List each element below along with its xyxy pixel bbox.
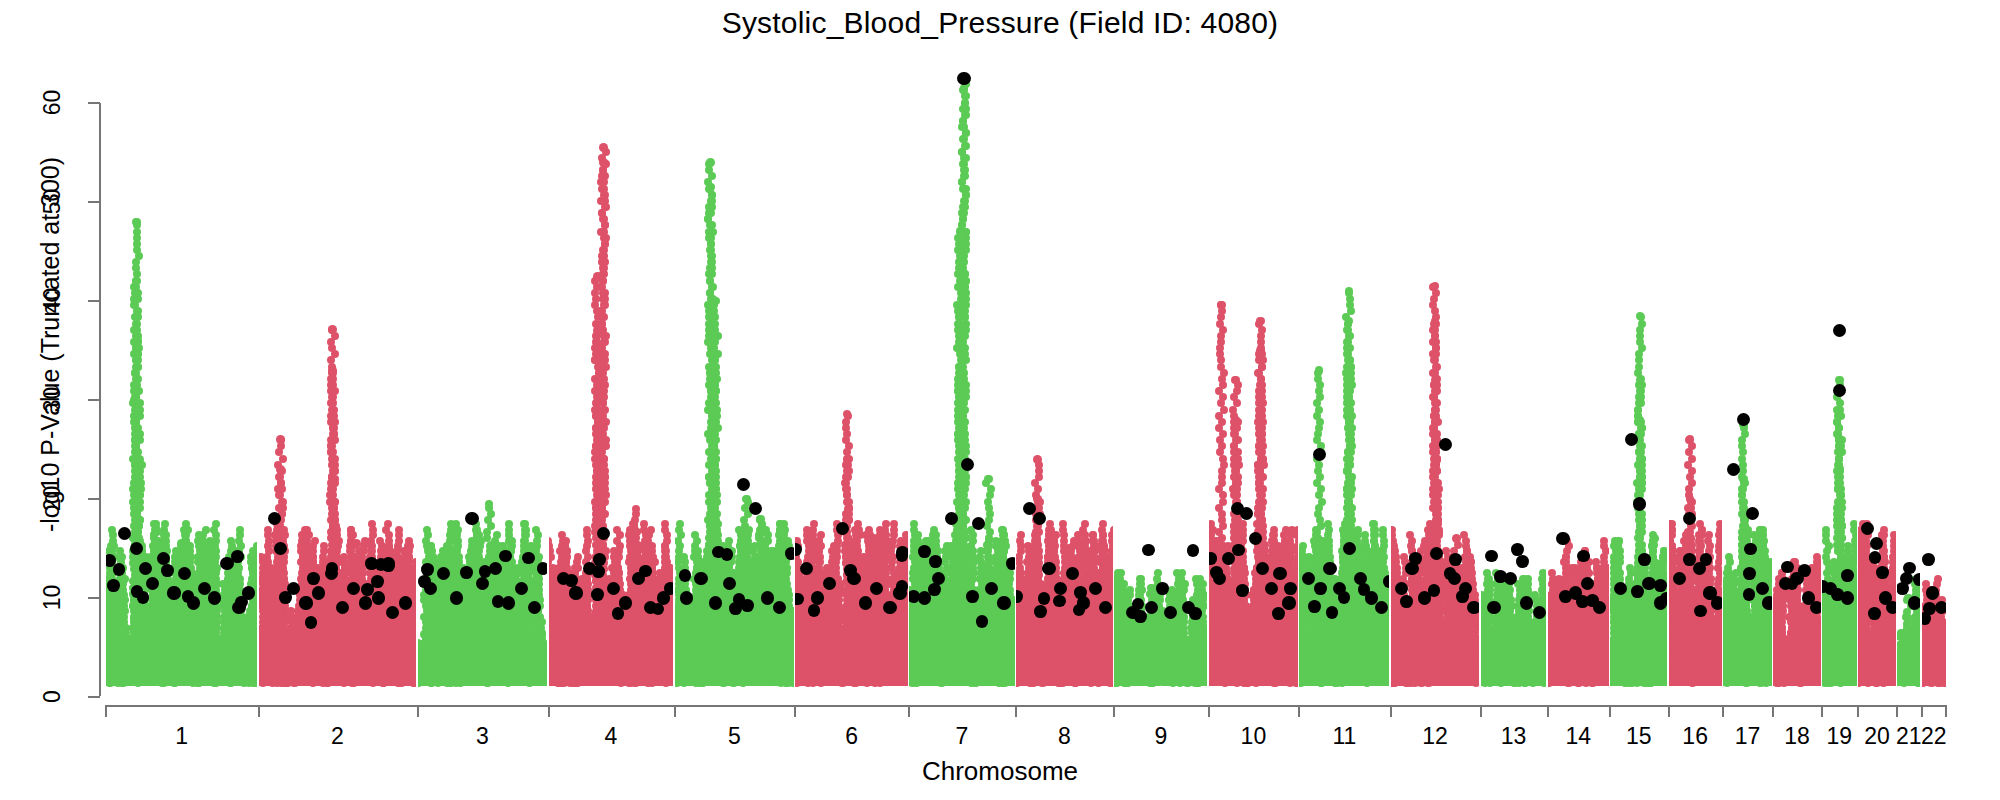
highlighted-variant-point <box>1439 438 1452 451</box>
highlighted-variant-point <box>1358 583 1371 596</box>
peak-apex-point <box>593 326 602 335</box>
x-tick-label-19: 19 <box>1826 723 1852 750</box>
variant-point <box>1725 553 1733 561</box>
highlighted-variant-point <box>1876 566 1889 579</box>
highlighted-variant-point <box>1781 561 1794 574</box>
variant-point <box>1328 624 1336 632</box>
highlighted-variant-point <box>565 574 578 587</box>
highlighted-variant-point <box>1400 595 1413 608</box>
variant-point <box>527 542 535 550</box>
chromosome-block-18 <box>1773 60 1820 697</box>
peak-apex-point <box>956 227 965 236</box>
variant-point <box>368 542 376 550</box>
peak-apex-point <box>1452 534 1461 543</box>
highlighted-variant-point <box>537 562 547 575</box>
variant-point <box>1099 651 1107 659</box>
peak-apex-point <box>1232 455 1241 464</box>
highlighted-variant-point <box>1743 567 1756 580</box>
highlighted-variant-point <box>1487 601 1500 614</box>
highlighted-variant-point <box>997 596 1010 609</box>
peak-apex-point <box>984 475 993 484</box>
highlighted-variant-point <box>859 596 872 609</box>
x-tick-label-15: 15 <box>1626 723 1652 750</box>
peak-apex-point <box>330 475 339 484</box>
highlighted-variant-point <box>299 596 312 609</box>
variant-point <box>1615 537 1623 545</box>
variant-point <box>1600 537 1608 545</box>
plot-data-area <box>100 60 1950 697</box>
peak-apex-point <box>177 539 186 548</box>
variant-point <box>1154 569 1162 577</box>
peak-apex-point <box>1033 455 1042 464</box>
highlighted-variant-point <box>1926 586 1939 599</box>
variant-point <box>423 526 431 534</box>
peak-apex-point <box>1217 301 1226 310</box>
highlighted-variant-point <box>1743 588 1756 601</box>
peak-apex-point <box>593 272 602 281</box>
variant-point <box>851 526 859 534</box>
highlighted-variant-point <box>749 502 762 515</box>
variant-point <box>1400 553 1408 561</box>
variant-point <box>1555 575 1563 583</box>
variant-point <box>1716 520 1722 528</box>
variant-point <box>1391 526 1396 534</box>
highlighted-variant-point <box>382 559 395 572</box>
page-title: Systolic_Blood_Pressure (Field ID: 4080) <box>0 6 2000 40</box>
variant-point <box>361 537 369 545</box>
highlighted-variant-point <box>591 588 604 601</box>
highlighted-variant-point <box>896 546 908 559</box>
peak-apex-point <box>1345 356 1354 365</box>
highlighted-variant-point <box>1066 567 1079 580</box>
peak-apex-point <box>844 505 853 514</box>
variant-point <box>1698 526 1706 534</box>
x-tick-6 <box>794 705 796 717</box>
highlighted-variant-point <box>1831 588 1844 601</box>
y-tick-0 <box>88 696 100 698</box>
peak-apex-point <box>328 366 337 375</box>
variant-point <box>212 520 220 528</box>
highlighted-variant-point <box>723 577 736 590</box>
highlighted-variant-point <box>1673 572 1686 585</box>
highlighted-variant-point <box>896 580 908 593</box>
highlighted-variant-point <box>1810 601 1820 614</box>
y-tick-label-10: 10 <box>39 568 66 628</box>
chromosome-block-20 <box>1858 60 1896 697</box>
variant-point <box>1110 526 1113 534</box>
x-tick-22 <box>1921 705 1923 717</box>
peak-apex-point <box>956 247 965 256</box>
highlighted-variant-point <box>694 572 707 585</box>
highlighted-variant-point <box>1467 601 1479 614</box>
variant-point <box>1099 520 1107 528</box>
variant-point <box>376 537 384 545</box>
chromosome-block-8 <box>1016 60 1113 697</box>
chromosome-block-14 <box>1548 60 1609 697</box>
highlighted-variant-point <box>139 562 152 575</box>
variant-point <box>1324 520 1332 528</box>
variant-point <box>405 537 413 545</box>
x-tick-9 <box>1113 705 1115 717</box>
peak-apex-point <box>706 158 715 167</box>
peak-apex-point <box>1065 544 1074 553</box>
highlighted-variant-point <box>729 602 742 615</box>
variant-point <box>1814 558 1821 566</box>
variant-point <box>1361 531 1369 539</box>
highlighted-variant-point <box>1142 544 1155 557</box>
highlighted-variant-point <box>1577 550 1590 563</box>
variant-point <box>661 542 669 550</box>
highlighted-variant-point <box>712 546 725 559</box>
chromosome-block-22 <box>1922 60 1946 697</box>
highlighted-variant-point <box>1614 582 1627 595</box>
variant-point <box>1705 531 1713 539</box>
highlighted-variant-point <box>1236 584 1249 597</box>
peak-apex-point <box>133 336 142 345</box>
peak-apex-point <box>1686 435 1695 444</box>
x-tick-label-1: 1 <box>175 723 188 750</box>
variant-point <box>541 640 547 648</box>
highlighted-variant-point <box>844 564 857 577</box>
highlighted-variant-point <box>479 565 492 578</box>
y-tick-40 <box>88 300 100 302</box>
x-tick-label-5: 5 <box>728 723 741 750</box>
highlighted-variant-point <box>1683 553 1696 566</box>
highlighted-variant-point <box>359 596 372 609</box>
peak-apex-point <box>599 158 608 167</box>
variant-point <box>1672 618 1680 626</box>
variant-point <box>202 526 210 534</box>
variant-point <box>1081 520 1089 528</box>
peak-apex-point <box>1256 317 1265 326</box>
variant-point <box>535 553 543 561</box>
x-tick-20 <box>1857 705 1859 717</box>
x-tick-label-20: 20 <box>1864 723 1890 750</box>
variant-point <box>236 526 244 534</box>
x-tick-1 <box>105 705 107 717</box>
peak-apex-point <box>1256 396 1265 405</box>
x-tick-label-16: 16 <box>1682 723 1708 750</box>
variant-point <box>395 526 403 534</box>
y-tick-label-50: 50 <box>39 172 66 232</box>
variant-point <box>1299 586 1305 594</box>
peak-apex-point <box>1687 534 1696 543</box>
variant-point <box>1941 629 1946 637</box>
highlighted-variant-point <box>957 72 970 85</box>
highlighted-variant-point <box>1833 384 1846 397</box>
x-tick-label-3: 3 <box>476 723 489 750</box>
highlighted-variant-point <box>460 566 473 579</box>
variant-point <box>661 520 669 528</box>
variant-point <box>930 526 938 534</box>
highlighted-variant-point <box>1868 607 1881 620</box>
chromosome-block-13 <box>1481 60 1547 697</box>
variant-point <box>1017 531 1025 539</box>
variant-point <box>676 613 684 621</box>
highlighted-variant-point <box>1034 605 1047 618</box>
highlighted-variant-point <box>1576 595 1589 608</box>
highlighted-variant-point <box>737 478 750 491</box>
peak-apex-point <box>1836 435 1845 444</box>
chromosome-block-2 <box>259 60 417 697</box>
peak-apex-point <box>201 554 210 563</box>
peak-apex-point <box>1568 564 1577 573</box>
y-tick-label-0: 0 <box>39 667 66 727</box>
highlighted-variant-point <box>1033 512 1046 525</box>
x-tick-14 <box>1547 705 1549 717</box>
highlighted-variant-point <box>492 595 505 608</box>
highlighted-variant-point <box>593 553 606 566</box>
highlighted-variant-point <box>437 567 450 580</box>
highlighted-variant-point <box>1449 553 1462 566</box>
variant-point <box>806 624 814 632</box>
x-tick-label-17: 17 <box>1735 723 1761 750</box>
variant-point <box>319 613 327 621</box>
x-tick-label-22: 22 <box>1921 723 1947 750</box>
y-tick-10 <box>88 597 100 599</box>
peak-point <box>595 363 603 371</box>
variant-point <box>1282 526 1290 534</box>
peak-apex-point <box>1033 495 1042 504</box>
variant-point <box>1660 553 1668 561</box>
chromosome-block-3 <box>418 60 547 697</box>
highlighted-variant-point <box>365 557 378 570</box>
y-axis-title: -log10 P-Value (Truncated at 300) <box>36 65 65 625</box>
variant-point <box>676 520 684 528</box>
y-tick-20 <box>88 498 100 500</box>
variant-point <box>465 553 473 561</box>
highlighted-variant-point <box>569 586 582 599</box>
highlighted-variant-point <box>1631 585 1644 598</box>
x-tick-2 <box>258 705 260 717</box>
variant-point <box>830 542 838 550</box>
y-tick-60 <box>88 102 100 104</box>
highlighted-variant-point <box>399 596 412 609</box>
highlighted-variant-point <box>1660 592 1667 605</box>
variant-point <box>622 629 630 637</box>
x-tick-label-12: 12 <box>1422 723 1448 750</box>
highlighted-variant-point <box>1284 582 1297 595</box>
x-tick-label-2: 2 <box>331 723 344 750</box>
x-tick-17 <box>1722 705 1724 717</box>
chromosome-block-4 <box>549 60 674 697</box>
highlighted-variant-point <box>1323 562 1336 575</box>
highlighted-variant-point <box>607 582 620 595</box>
variant-point <box>206 537 214 545</box>
highlighted-variant-point <box>1520 596 1533 609</box>
highlighted-variant-point <box>1861 522 1874 535</box>
peak-apex-point <box>352 539 361 548</box>
highlighted-variant-point <box>372 591 385 604</box>
highlighted-variant-point <box>1908 596 1920 609</box>
variant-point <box>883 656 891 664</box>
variant-point <box>789 607 794 615</box>
variant-point <box>720 651 728 659</box>
variant-point <box>161 520 169 528</box>
variant-point <box>1199 580 1207 588</box>
highlighted-variant-point <box>1156 582 1169 595</box>
peak-apex-point <box>135 455 144 464</box>
highlighted-variant-point <box>1516 555 1529 568</box>
highlighted-variant-point <box>883 601 896 614</box>
peak-apex-point <box>514 564 523 573</box>
variant-point <box>238 618 246 626</box>
highlighted-variant-point <box>1869 551 1882 564</box>
x-tick-label-8: 8 <box>1058 723 1071 750</box>
highlighted-variant-point <box>800 562 813 575</box>
variant-point <box>817 531 825 539</box>
variant-point <box>121 575 129 583</box>
peak-apex-point <box>756 515 765 524</box>
x-tick-19 <box>1821 705 1823 717</box>
chromosome-block-7 <box>909 60 1014 697</box>
highlighted-variant-point <box>1006 557 1014 570</box>
x-tick-label-10: 10 <box>1241 723 1267 750</box>
x-tick-label-11: 11 <box>1332 723 1356 750</box>
variant-point <box>429 553 437 561</box>
highlighted-variant-point <box>985 582 998 595</box>
peak-apex-point <box>1175 594 1184 603</box>
highlighted-variant-point <box>465 512 478 525</box>
variant-point <box>267 564 275 572</box>
variant-point <box>347 526 355 534</box>
variant-point <box>810 520 818 528</box>
variant-point <box>1626 564 1634 572</box>
peak-apex-point <box>447 549 456 558</box>
chromosome-block-12 <box>1391 60 1480 697</box>
variant-point <box>574 553 582 561</box>
variant-point <box>1160 624 1168 632</box>
chromosome-block-17 <box>1723 60 1772 697</box>
highlighted-variant-point <box>161 564 174 577</box>
variant-point <box>311 537 319 545</box>
highlighted-variant-point <box>1744 543 1757 556</box>
highlighted-variant-point <box>1395 582 1408 595</box>
highlighted-variant-point <box>1265 582 1278 595</box>
highlighted-variant-point <box>1485 550 1498 563</box>
peak-apex-point <box>1345 416 1354 425</box>
peak-apex-point <box>1231 416 1240 425</box>
chromosome-block-6 <box>795 60 908 697</box>
variant-point <box>301 526 309 534</box>
highlighted-variant-point <box>680 591 693 604</box>
highlighted-variant-point <box>1897 582 1908 595</box>
highlighted-variant-point <box>1249 532 1262 545</box>
variant-point <box>317 635 325 643</box>
highlighted-variant-point <box>1737 413 1750 426</box>
variant-point <box>384 520 392 528</box>
variant-point <box>1539 575 1547 583</box>
y-tick-label-60: 60 <box>39 73 66 133</box>
highlighted-variant-point <box>1313 448 1326 461</box>
variant-point <box>1934 575 1942 583</box>
peak-apex-point <box>1345 317 1354 326</box>
highlighted-variant-point <box>597 527 610 540</box>
highlighted-variant-point <box>347 582 360 595</box>
highlighted-variant-point <box>1638 553 1651 566</box>
highlighted-variant-point <box>1556 532 1569 545</box>
chromosome-block-1 <box>106 60 257 697</box>
x-tick-8 <box>1015 705 1017 717</box>
highlighted-variant-point <box>1074 586 1087 599</box>
highlighted-variant-point <box>476 577 489 590</box>
highlighted-variant-point <box>1870 537 1883 550</box>
variant-point <box>1890 531 1895 539</box>
highlighted-variant-point <box>664 582 673 595</box>
variant-point <box>1723 569 1731 577</box>
variant-point <box>1126 586 1134 594</box>
variant-point <box>378 624 386 632</box>
highlighted-variant-point <box>592 565 605 578</box>
highlighted-variant-point <box>966 590 979 603</box>
variant-point <box>998 537 1006 545</box>
peak-apex-point <box>1256 346 1265 355</box>
highlighted-variant-point <box>1581 577 1594 590</box>
peak-apex-point <box>1315 366 1324 375</box>
x-tick-7 <box>908 705 910 717</box>
x-tick-21 <box>1896 705 1898 717</box>
x-tick-label-7: 7 <box>956 723 969 750</box>
highlighted-variant-point <box>157 552 170 565</box>
highlighted-variant-point <box>418 575 431 588</box>
highlighted-variant-point <box>1511 543 1524 556</box>
chromosome-block-9 <box>1114 60 1207 697</box>
peak-apex-point <box>1433 455 1442 464</box>
highlighted-variant-point <box>612 607 625 620</box>
variant-point <box>1379 526 1387 534</box>
variant-point <box>1026 569 1034 577</box>
highlighted-variant-point <box>1089 582 1102 595</box>
variant-point <box>532 526 540 534</box>
peak-apex-point <box>152 524 161 533</box>
highlighted-variant-point <box>1383 575 1389 588</box>
peak-apex-point <box>1636 416 1645 425</box>
highlighted-variant-point <box>1711 596 1721 609</box>
highlighted-variant-point <box>1409 552 1422 565</box>
peak-apex-point <box>276 465 285 474</box>
variant-point <box>817 629 825 637</box>
variant-point <box>1270 526 1278 534</box>
highlighted-variant-point <box>823 577 836 590</box>
y-tick-50 <box>88 201 100 203</box>
variant-point <box>890 520 898 528</box>
highlighted-variant-point <box>1913 573 1920 586</box>
variant-point <box>1210 537 1218 545</box>
variant-point <box>227 537 235 545</box>
x-tick-4 <box>548 705 550 717</box>
peak-apex-point <box>711 297 720 306</box>
variant-point <box>998 624 1006 632</box>
x-tick-label-6: 6 <box>845 723 858 750</box>
highlighted-variant-point <box>870 582 883 595</box>
chromosome-block-21 <box>1897 60 1920 697</box>
peak-apex-point <box>599 143 608 152</box>
highlighted-variant-point <box>178 567 191 580</box>
highlighted-variant-point <box>1273 567 1286 580</box>
variant-point <box>680 553 688 561</box>
highlighted-variant-point <box>522 552 535 565</box>
highlighted-variant-point <box>961 458 974 471</box>
highlighted-variant-point <box>1903 562 1916 575</box>
x-tick-10 <box>1208 705 1210 717</box>
variant-point <box>411 586 417 594</box>
variant-point <box>1766 558 1772 566</box>
highlighted-variant-point <box>1633 497 1646 510</box>
peak-apex-point <box>328 416 337 425</box>
highlighted-variant-point <box>1134 610 1147 623</box>
x-tick-label-21: 21 <box>1896 723 1922 750</box>
highlighted-variant-point <box>1762 596 1772 609</box>
